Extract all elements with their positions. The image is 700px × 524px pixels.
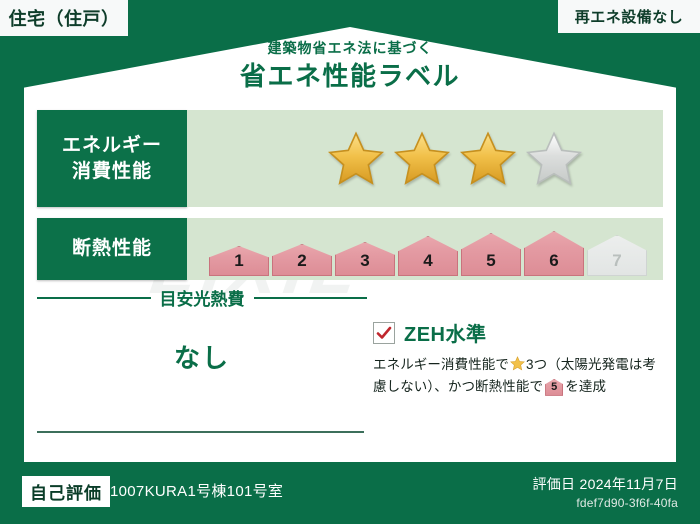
grade-house-shape: 5 [461, 233, 521, 276]
grade-number: 4 [423, 252, 432, 275]
zeh-desc-part3: を達成 [565, 379, 606, 394]
grade-house-shape: 7 [587, 235, 647, 276]
energy-label-line2: 消費性能 [72, 161, 152, 182]
energy-label-line1: エネルギー [62, 135, 162, 156]
grade-house-shape: 4 [398, 236, 458, 276]
zeh-desc-part1: エネルギー消費性能で [373, 357, 509, 372]
energy-performance-row: エネルギー 消費性能 [37, 110, 663, 207]
zeh-desc-star-count: 3つ（太陽光発電 [526, 357, 629, 372]
star-empty-icon [525, 131, 583, 187]
insulation-grade-5: 5 [461, 233, 521, 276]
zeh-title-row: ZEH水準 [373, 318, 663, 347]
grade-number: 2 [297, 252, 306, 275]
utility-cost-bottom-rule [37, 431, 364, 433]
utility-cost-block: 目安光熱費 なし [37, 285, 367, 375]
grade-number: 5 [486, 252, 495, 275]
insulation-performance-row: 断熱性能 1234567 [37, 218, 663, 280]
zeh-checkbox[interactable] [373, 322, 395, 344]
utility-cost-value: なし [37, 338, 367, 375]
zeh-description: エネルギー消費性能で3つ（太陽光発電は考慮しない）、かつ断熱性能で5を達成 [373, 354, 663, 398]
insulation-grade-1: 1 [209, 246, 269, 276]
energy-performance-value [187, 110, 663, 207]
insulation-grade-scale: 1234567 [187, 214, 647, 284]
unit-name: 1007KURA1号棟101号室 [110, 480, 283, 501]
evaluation-id: fdef7d90-3f6f-40fa [576, 496, 678, 510]
insulation-grade-7: 7 [587, 235, 647, 276]
grade-number: 3 [360, 252, 369, 275]
renewable-energy-tag: 再エネ設備なし [558, 0, 700, 33]
zeh-label: ZEH水準 [404, 318, 487, 347]
rule-right [254, 297, 368, 299]
star-filled-icon [459, 131, 517, 187]
energy-performance-label: LIXIL 住宅（住戸） 再エネ設備なし 建築物省エネ法に基づく 省エネ性能ラベ… [0, 0, 700, 524]
grade-number: 7 [612, 252, 621, 275]
label-footer: 自己評価 1007KURA1号棟101号室 評価日 2024年11月7日 fde… [0, 462, 700, 524]
insulation-grade-6: 6 [524, 231, 584, 276]
zeh-block: ZEH水準 エネルギー消費性能で3つ（太陽光発電は考慮しない）、かつ断熱性能で5… [373, 318, 663, 398]
check-icon [376, 325, 392, 341]
evaluation-date: 評価日 2024年11月7日 [532, 474, 678, 494]
insulation-performance-label-box: 断熱性能 [37, 218, 187, 280]
insulation-grade-3: 3 [335, 242, 395, 276]
insulation-grade-2: 2 [272, 244, 332, 276]
inline-star-icon [510, 356, 525, 371]
utility-cost-heading: 目安光熱費 [37, 285, 367, 310]
grade-number: 6 [549, 252, 558, 275]
star-filled-icon [393, 131, 451, 187]
grade-house-shape: 2 [272, 244, 332, 276]
star-rating [187, 131, 583, 187]
rule-left [37, 297, 151, 299]
star-filled-icon [327, 131, 385, 187]
insulation-grade-4: 4 [398, 236, 458, 276]
insulation-performance-value: 1234567 [187, 218, 663, 280]
grade-house-shape: 1 [209, 246, 269, 276]
energy-performance-label-box: エネルギー 消費性能 [37, 110, 187, 207]
self-evaluation-badge: 自己評価 [22, 476, 110, 507]
grade-house-shape: 3 [335, 242, 395, 276]
inline-grade-badge: 5 [545, 379, 563, 396]
utility-cost-heading-text: 目安光熱費 [160, 285, 245, 310]
building-type-tag: 住宅（住戸） [0, 0, 128, 36]
grade-number: 1 [234, 252, 243, 275]
grade-house-shape: 6 [524, 231, 584, 276]
